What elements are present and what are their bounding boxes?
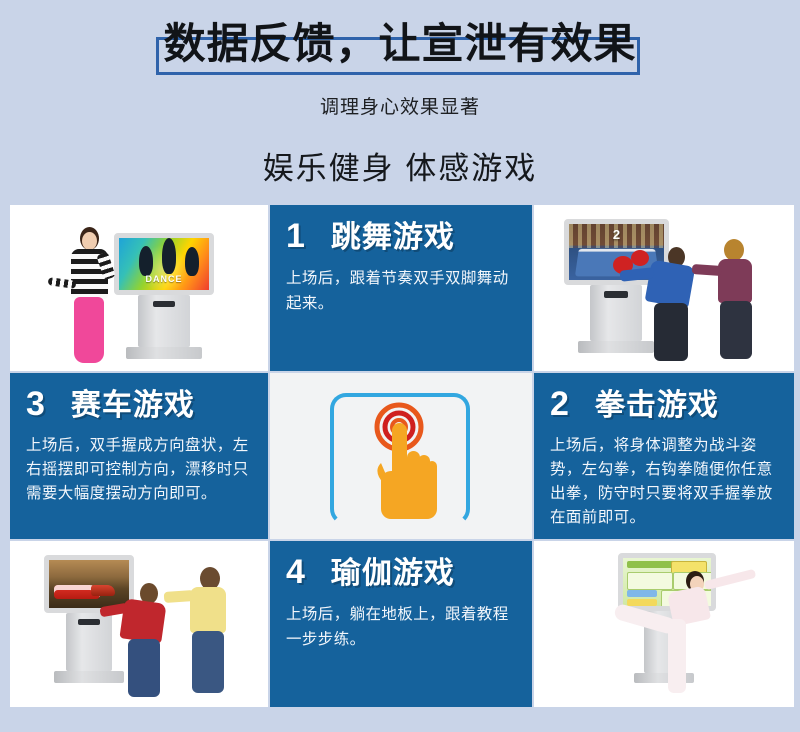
dance-game-photo: DANCE (10, 205, 268, 371)
step-heading: 4 瑜伽游戏 (286, 555, 516, 589)
boxing-photo-canvas: 2 (534, 205, 794, 371)
section-heading: 娱乐健身 体感游戏 (0, 143, 800, 188)
yoga-player-figure (612, 561, 762, 701)
step-description: 上场后，跟着节奏双手双脚舞动起来。 (286, 266, 516, 316)
player-leg-raised (613, 603, 677, 635)
dance-kiosk-base (126, 347, 202, 359)
dance-kiosk-sensor (153, 301, 175, 307)
racing-kiosk-sensor (78, 619, 100, 625)
step-card-yoga: 4 瑜伽游戏 上场后，躺在地板上，跟着教程一步步练。 (270, 541, 532, 707)
player-face (82, 232, 97, 250)
racing-photo-canvas (10, 541, 268, 707)
player-arm (164, 590, 195, 603)
step-title: 跳舞游戏 (331, 223, 455, 253)
step-number: 3 (26, 387, 45, 421)
step-number: 2 (550, 387, 569, 421)
step-description: 上场后，躺在地板上，跟着教程一步步练。 (286, 602, 516, 652)
dancer-silhouette (185, 247, 199, 276)
yoga-photo-canvas (534, 541, 794, 707)
step-description: 上场后，双手握成方向盘状，左右摇摆即可控制方向，漂移时只需要大幅度摆动方向即可。 (26, 434, 252, 506)
step-title: 赛车游戏 (71, 391, 195, 421)
step-number: 1 (286, 219, 305, 253)
step-card-racing: 3 赛车游戏 上场后，双手握成方向盘状，左右摇摆即可控制方向，漂移时只需要大幅度… (10, 373, 268, 539)
boxing-game-photo: 2 (534, 205, 794, 371)
boxing-player-purple (710, 239, 770, 365)
touch-gesture-cell (270, 373, 532, 539)
page-subtitle: 调理身心效果显著 (0, 92, 800, 119)
player-legs (74, 297, 104, 363)
player-torso (718, 259, 752, 303)
step-heading: 1 跳舞游戏 (286, 219, 516, 253)
dance-player-figure (58, 227, 118, 367)
dancer-silhouette (162, 238, 176, 274)
title-block: 数据反馈，让宣泄有效果 (0, 14, 800, 94)
player-legs (128, 639, 160, 697)
step-card-dance: 1 跳舞游戏 上场后，跟着节奏双手双脚舞动起来。 (270, 205, 532, 371)
page-header: 数据反馈，让宣泄有效果 调理身心效果显著 娱乐健身 体感游戏 (0, 0, 800, 205)
boxing-round-counter: 2 (613, 227, 620, 242)
player-torso (645, 259, 696, 308)
player-head (724, 239, 744, 261)
step-title: 瑜伽游戏 (331, 559, 455, 589)
player-torso (190, 587, 226, 633)
dance-photo-canvas: DANCE (10, 205, 268, 371)
step-heading: 3 赛车游戏 (26, 387, 252, 421)
boxing-kiosk-sensor (604, 291, 628, 298)
player-legs (654, 303, 688, 361)
racing-player-man (178, 567, 240, 701)
step-title: 拳击游戏 (595, 391, 719, 421)
race-car-secondary (91, 585, 115, 596)
player-legs (192, 631, 224, 693)
touch-gesture-icon (365, 401, 437, 531)
racing-game-photo (10, 541, 268, 707)
player-arm (692, 264, 723, 276)
step-heading: 2 拳击游戏 (550, 387, 778, 421)
step-description: 上场后，将身体调整为战斗姿势，左勾拳，右钩拳随便你任意出拳，防守时只要将双手握拳… (550, 434, 778, 530)
dancer-silhouette (139, 246, 153, 276)
step-card-boxing: 2 拳击游戏 上场后，将身体调整为战斗姿势，左勾拳，右钩拳随便你任意出拳，防守时… (534, 373, 794, 539)
feature-grid: DANCE 1 跳舞游戏 上场后，跟着节奏双手双脚舞动起来。 (10, 205, 790, 703)
dance-game-graphic: DANCE (119, 238, 209, 290)
player-legs (720, 301, 752, 359)
page-title: 数据反馈，让宣泄有效果 (0, 14, 800, 74)
yoga-game-photo (534, 541, 794, 707)
player-arm-extended (704, 569, 757, 590)
dance-screen-label: DANCE (145, 274, 182, 284)
step-number: 4 (286, 555, 305, 589)
dance-kiosk-screen: DANCE (114, 233, 214, 295)
